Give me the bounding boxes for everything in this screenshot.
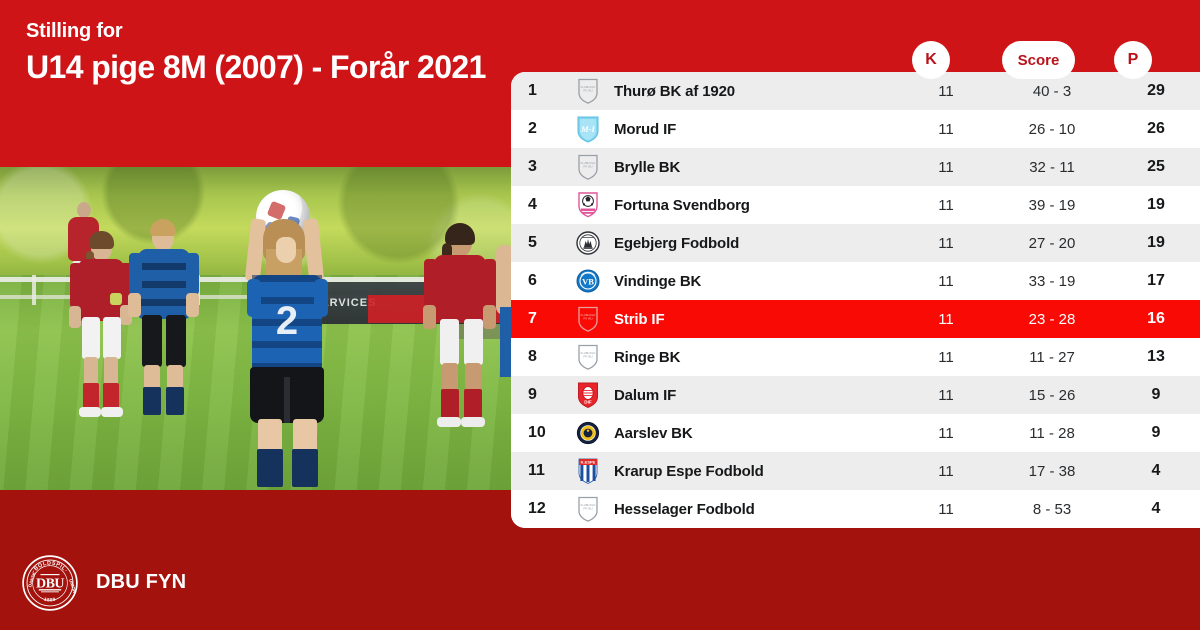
club-crest-icon [567,229,609,257]
row-team-name: Dalum IF [609,387,900,404]
club-crest-icon: K.ESPE [567,457,609,485]
row-rank: 5 [511,234,567,252]
table-row[interactable]: 11 K.ESPE Krarup Espe Fodbold1117 - 384 [511,452,1200,490]
table-row[interactable]: 12 KLUBLOGO PÅ VEJ Hesselager Fodbold118… [511,490,1200,528]
row-rank: 9 [511,386,567,404]
svg-text:M-I: M-I [580,124,595,134]
row-team-name: Fortuna Svendborg [609,197,900,214]
column-header-score-label: Score [1018,52,1060,69]
row-points: 19 [1112,196,1200,214]
club-crest-icon: M-I [567,115,609,143]
row-score: 33 - 19 [992,273,1112,290]
table-row[interactable]: 7 KLUBLOGO PÅ VEJ Strib IF1123 - 2816 [511,300,1200,338]
row-team-name: Thurø BK af 1920 [609,83,900,100]
table-row[interactable]: 6 VB Vindinge BK1133 - 1917 [511,262,1200,300]
row-team-name: Morud IF [609,121,900,138]
svg-text:·BOLDSPIL·: ·BOLDSPIL· [31,560,68,574]
row-points: 9 [1112,386,1200,404]
club-crest-icon: KLUBLOGO PÅ VEJ [567,495,609,523]
row-team-name: Aarslev BK [609,425,900,442]
row-points: 19 [1112,234,1200,252]
footer-bar: ·BOLDSPIL· 1889 DANSK UNION DBU DBU FYN [0,535,1200,630]
svg-text:DIF: DIF [584,400,592,405]
column-header-matches-label: K [925,51,937,69]
table-row[interactable]: 5 Egebjerg Fodbold1127 - 2019 [511,224,1200,262]
match-photo: SERVICES [0,167,511,490]
row-rank: 3 [511,158,567,176]
table-row[interactable]: 4 Fortuna Svendborg1139 - 1919 [511,186,1200,224]
club-crest-icon [567,191,609,219]
club-crest-icon: DIF [567,381,609,409]
kicker-text: Stilling for [26,18,496,44]
row-rank: 7 [511,310,567,328]
row-score: 15 - 26 [992,387,1112,404]
table-row[interactable]: 1 KLUBLOGO PÅ VEJ Thurø BK af 19201140 -… [511,72,1200,110]
svg-text:VB: VB [582,276,594,286]
row-score: 39 - 19 [992,197,1112,214]
row-score: 8 - 53 [992,501,1112,518]
row-matches: 11 [900,83,992,100]
row-points: 4 [1112,462,1200,480]
club-crest-icon: KLUBLOGO PÅ VEJ [567,77,609,105]
table-row[interactable]: 9 DIF Dalum IF1115 - 269 [511,376,1200,414]
row-matches: 11 [900,349,992,366]
photo-fence-post [32,275,36,305]
row-team-name: Vindinge BK [609,273,900,290]
row-matches: 11 [900,159,992,176]
row-score: 23 - 28 [992,311,1112,328]
row-matches: 11 [900,121,992,138]
row-matches: 11 [900,463,992,480]
column-header-points-label: P [1128,51,1139,69]
row-matches: 11 [900,273,992,290]
column-header-points[interactable]: P [1114,41,1152,79]
row-team-name: Egebjerg Fodbold [609,235,900,252]
club-crest-icon: KLUBLOGO PÅ VEJ [567,343,609,371]
table-row[interactable]: 10 Aarslev BK1111 - 289 [511,414,1200,452]
row-team-name: Strib IF [609,311,900,328]
row-rank: 2 [511,120,567,138]
row-matches: 11 [900,387,992,404]
row-points: 29 [1112,82,1200,100]
standings-table: 1 KLUBLOGO PÅ VEJ Thurø BK af 19201140 -… [511,72,1200,528]
row-score: 26 - 10 [992,121,1112,138]
column-header-matches[interactable]: K [912,41,950,79]
row-matches: 11 [900,501,992,518]
svg-text:KLUBLOGO: KLUBLOGO [581,313,596,317]
row-points: 25 [1112,158,1200,176]
row-score: 27 - 20 [992,235,1112,252]
row-points: 16 [1112,310,1200,328]
row-score: 17 - 38 [992,463,1112,480]
row-rank: 10 [511,424,567,442]
svg-text:KLUBLOGO: KLUBLOGO [581,503,596,507]
row-points: 9 [1112,424,1200,442]
row-team-name: Hesselager Fodbold [609,501,900,518]
table-row[interactable]: 2 M-I Morud IF1126 - 1026 [511,110,1200,148]
row-team-name: Brylle BK [609,159,900,176]
club-crest-icon [567,419,609,447]
svg-text:KLUBLOGO: KLUBLOGO [581,85,596,89]
footer-label: DBU FYN [96,571,186,594]
club-crest-icon: KLUBLOGO PÅ VEJ [567,305,609,333]
row-score: 11 - 28 [992,425,1112,442]
svg-text:KLUBLOGO: KLUBLOGO [581,351,596,355]
row-rank: 6 [511,272,567,290]
svg-text:1889: 1889 [43,596,57,603]
dbu-logo-icon: ·BOLDSPIL· 1889 DANSK UNION DBU [22,555,78,611]
row-matches: 11 [900,425,992,442]
row-matches: 11 [900,235,992,252]
row-team-name: Ringe BK [609,349,900,366]
row-points: 17 [1112,272,1200,290]
photo-jersey-number: 2 [252,293,322,349]
row-score: 40 - 3 [992,83,1112,100]
column-header-score[interactable]: Score [1002,41,1075,79]
row-team-name: Krarup Espe Fodbold [609,463,900,480]
page-title: U14 pige 8M (2007) - Forår 2021 [26,47,496,88]
table-row[interactable]: 8 KLUBLOGO PÅ VEJ Ringe BK1111 - 2713 [511,338,1200,376]
svg-text:K.ESPE: K.ESPE [581,459,596,464]
headline-block: Stilling for U14 pige 8M (2007) - Forår … [26,18,496,88]
standings-card: Stilling for U14 pige 8M (2007) - Forår … [0,0,1200,630]
row-points: 4 [1112,500,1200,518]
row-score: 11 - 27 [992,349,1112,366]
row-score: 32 - 11 [992,159,1112,176]
row-rank: 1 [511,82,567,100]
row-matches: 11 [900,311,992,328]
row-rank: 8 [511,348,567,366]
table-row[interactable]: 3 KLUBLOGO PÅ VEJ Brylle BK1132 - 1125 [511,148,1200,186]
svg-text:KLUBLOGO: KLUBLOGO [581,161,596,165]
club-crest-icon: KLUBLOGO PÅ VEJ [567,153,609,181]
row-points: 26 [1112,120,1200,138]
row-points: 13 [1112,348,1200,366]
row-rank: 4 [511,196,567,214]
club-crest-icon: VB [567,267,609,295]
row-matches: 11 [900,197,992,214]
row-rank: 12 [511,500,567,518]
row-rank: 11 [511,462,567,480]
